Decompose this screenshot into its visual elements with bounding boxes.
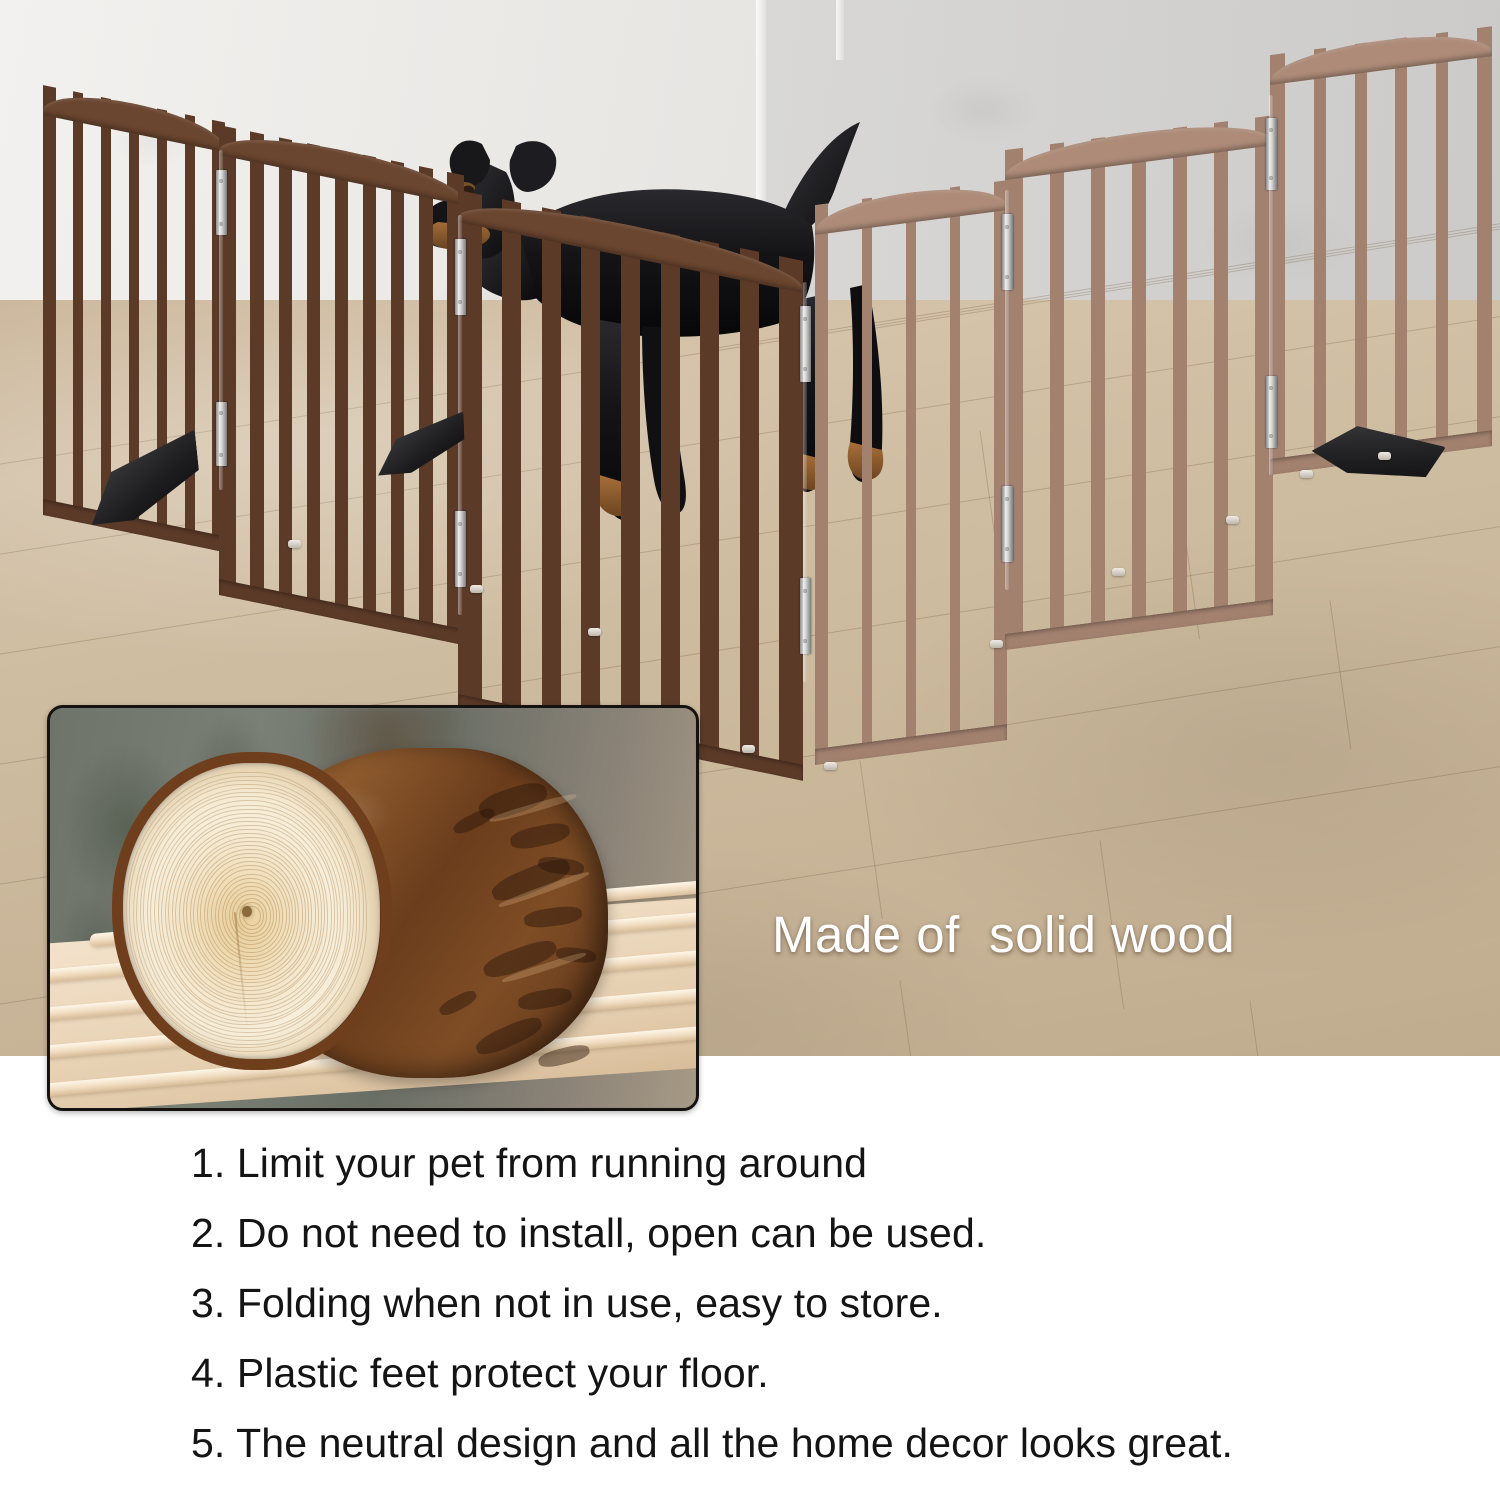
log-bark-rim: [112, 752, 392, 1070]
gate-floor-nub: [1226, 516, 1239, 524]
gate-slat: [862, 198, 873, 759]
solid-wood-closeup-inset: [47, 705, 699, 1111]
gate-floor-nub: [588, 628, 601, 636]
gate-panel-seam: [1269, 95, 1273, 475]
gate-slat: [661, 232, 680, 756]
gate-floor-nub: [1112, 568, 1125, 576]
gate-slat: [250, 131, 263, 604]
list-item: 1. Limit your pet from running around: [191, 1143, 1481, 1184]
gate-floor-nub: [1378, 452, 1391, 460]
gate-slat: [73, 91, 83, 523]
gate-slat: [542, 207, 561, 731]
feature-list: 1. Limit your pet from running around 2.…: [191, 1143, 1481, 1493]
gate-panel-5: [1005, 115, 1273, 650]
gate-panel-seam: [803, 282, 807, 682]
gate-panel-seam: [1005, 190, 1009, 590]
gate-panel-seam: [219, 150, 223, 490]
gate-slat: [1050, 142, 1065, 644]
gate-slat: [621, 223, 640, 747]
gate-floor-nub: [824, 762, 837, 770]
gate-slat: [1132, 132, 1147, 634]
gate-panel-4: [815, 180, 1007, 765]
gate-panel-2: [219, 125, 464, 645]
gate-slat: [1091, 137, 1106, 639]
gate-slat: [363, 155, 376, 628]
list-item: 4. Plastic feet protect your floor.: [191, 1353, 1481, 1394]
list-item: 2. Do not need to install, open can be u…: [191, 1213, 1481, 1254]
headline-made-of-solid-wood: Made of solid wood: [772, 905, 1235, 964]
gate-slat: [1173, 126, 1188, 628]
gate-panel-3: [458, 190, 803, 781]
gate-panel-6: [1270, 26, 1492, 475]
gate-slat: [815, 203, 828, 765]
gate-slat: [1214, 121, 1229, 623]
gate-slat: [419, 166, 432, 639]
gate-slat: [1355, 42, 1367, 464]
gate-floor-nub: [1300, 470, 1313, 478]
list-item: 5. The neutral design and all the home d…: [191, 1423, 1481, 1464]
gate-slat: [101, 97, 111, 529]
list-item: 3. Folding when not in use, easy to stor…: [191, 1283, 1481, 1324]
gate-slat: [335, 149, 348, 622]
gate-slat: [740, 248, 759, 772]
gate-floor-nub: [470, 585, 483, 593]
gate-slat: [391, 160, 404, 633]
gate-slat: [700, 240, 719, 764]
gate-slat: [581, 215, 600, 739]
gate-floor-nub: [288, 540, 301, 548]
gate-slat: [906, 192, 917, 753]
gate-slat: [502, 199, 521, 723]
gate-slat: [307, 143, 320, 616]
gate-floor-nub: [742, 745, 755, 753]
gate-slat: [1436, 32, 1448, 454]
gate-slat: [43, 85, 56, 518]
gate-slat: [1395, 37, 1407, 459]
gate-floor-nub: [990, 640, 1003, 648]
gate-slat: [185, 114, 195, 546]
wall-corner-edge-upper: [836, 0, 844, 60]
gate-slat: [1314, 48, 1326, 470]
gate-slat: [1477, 26, 1492, 448]
gate-slat: [950, 186, 961, 747]
